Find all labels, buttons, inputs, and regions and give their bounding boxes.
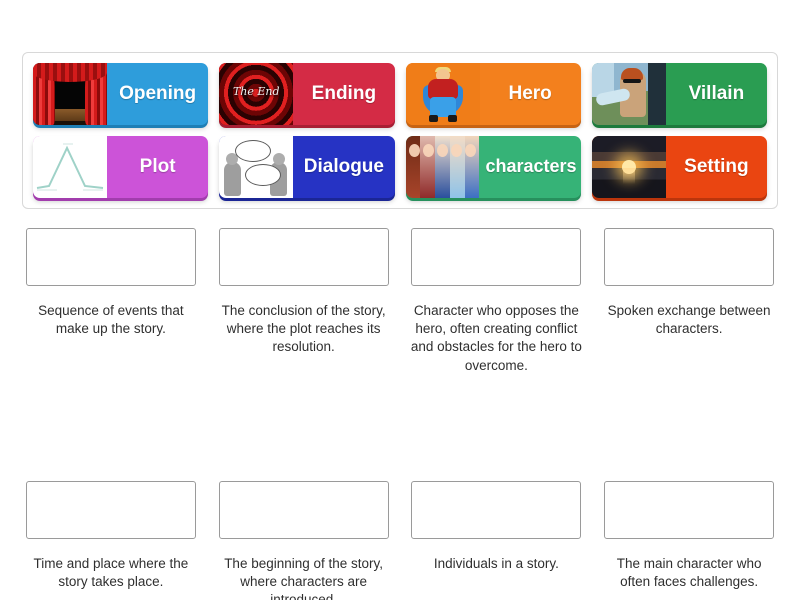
tile-label: Plot [107, 157, 208, 178]
tile-characters[interactable]: characters [406, 136, 581, 198]
drop-slot-5[interactable] [26, 481, 196, 539]
answer-cell: The beginning of the story, where charac… [215, 481, 393, 600]
definition-text: The main character who often faces chall… [601, 555, 777, 591]
tile-label: Dialogue [293, 157, 394, 178]
tile-label: Hero [480, 84, 581, 105]
definition-text: Spoken exchange between characters. [601, 302, 777, 338]
drop-slot-8[interactable] [604, 481, 774, 539]
answer-cell: Character who opposes the hero, often cr… [408, 228, 586, 375]
answer-row-2: Time and place where the story takes pla… [22, 481, 778, 600]
definition-text: Character who opposes the hero, often cr… [408, 302, 584, 375]
tile-label: Setting [666, 157, 767, 178]
definition-text: The beginning of the story, where charac… [216, 555, 392, 600]
superhero-icon [406, 63, 480, 125]
tile-setting[interactable]: Setting [592, 136, 767, 198]
drop-slot-1[interactable] [26, 228, 196, 286]
tile-label: Opening [107, 84, 208, 105]
answer-cell: Individuals in a story. [408, 481, 586, 600]
tile-ending[interactable]: The End Ending [219, 63, 394, 125]
tiles-grid: Opening The End Ending [33, 63, 767, 198]
tile-label: characters [480, 157, 581, 177]
answer-cell: Sequence of events that make up the stor… [22, 228, 200, 375]
theater-curtain-icon [33, 63, 107, 125]
villain-icon [592, 63, 666, 125]
answers-area: Sequence of events that make up the stor… [22, 228, 778, 600]
activity-stage: Opening The End Ending [0, 0, 800, 600]
plot-diagram-icon [33, 136, 107, 198]
sunset-icon [592, 136, 666, 198]
tile-villain[interactable]: Villain [592, 63, 767, 125]
definition-text: Individuals in a story. [408, 555, 584, 573]
answer-cell: Time and place where the story takes pla… [22, 481, 200, 600]
answer-row-1: Sequence of events that make up the stor… [22, 228, 778, 375]
princess-characters-icon [406, 136, 480, 198]
answer-cell: The main character who often faces chall… [600, 481, 778, 600]
drop-slot-4[interactable] [604, 228, 774, 286]
definition-text: The conclusion of the story, where the p… [216, 302, 392, 357]
drop-slot-7[interactable] [411, 481, 581, 539]
answer-cell: The conclusion of the story, where the p… [215, 228, 393, 375]
definition-text: Time and place where the story takes pla… [23, 555, 199, 591]
definition-text: Sequence of events that make up the stor… [23, 302, 199, 338]
tile-label: Ending [293, 84, 394, 105]
speech-bubbles-icon [219, 136, 293, 198]
tile-hero[interactable]: Hero [406, 63, 581, 125]
tile-dialogue[interactable]: Dialogue [219, 136, 394, 198]
the-end-icon: The End [219, 63, 293, 125]
drop-slot-6[interactable] [219, 481, 389, 539]
drop-slot-3[interactable] [411, 228, 581, 286]
tile-label: Villain [666, 84, 767, 105]
draggable-tiles-panel: Opening The End Ending [22, 52, 778, 209]
answer-cell: Spoken exchange between characters. [600, 228, 778, 375]
tile-opening[interactable]: Opening [33, 63, 208, 125]
tile-plot[interactable]: Plot [33, 136, 208, 198]
drop-slot-2[interactable] [219, 228, 389, 286]
